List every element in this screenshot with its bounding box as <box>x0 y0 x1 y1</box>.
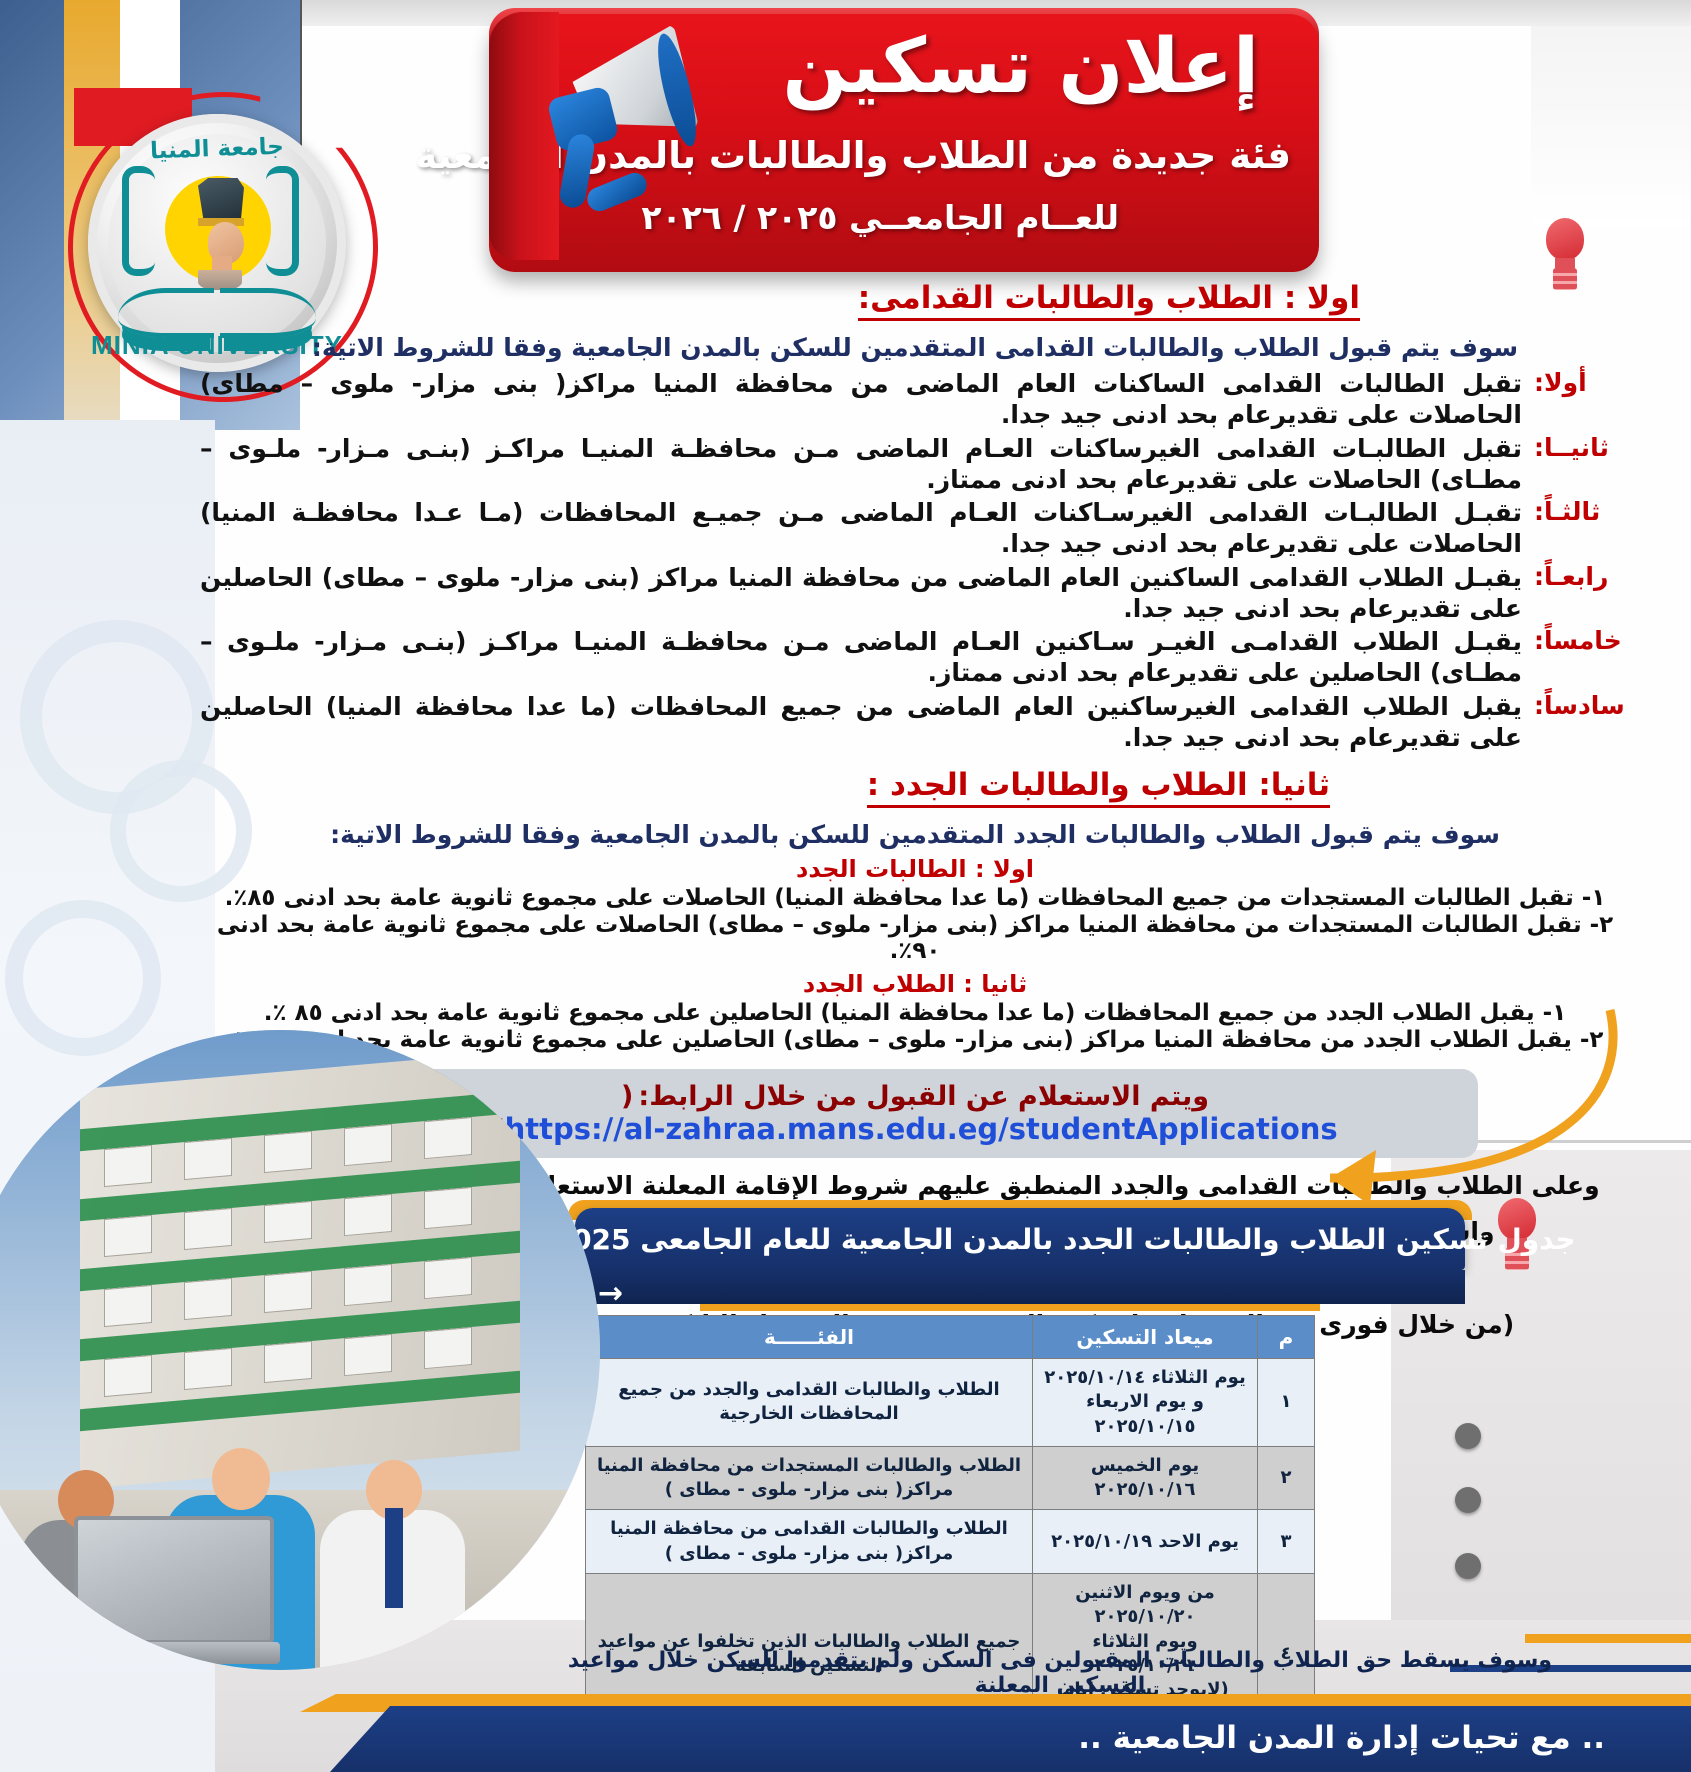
curved-arrow-icon <box>1210 1000 1630 1230</box>
condition-row: أولا: تقبل الطالبات القدامى الساكنات الع… <box>200 368 1630 431</box>
banner-title: إعلان تسكين <box>783 26 1259 106</box>
section1-lead: سوف يتم قبول الطلاب والطالبات القدامى ال… <box>200 333 1630 362</box>
table-row: ٢ يوم الخميس ٢٠٢٥/١٠/١٦ الطلاب والطالبات… <box>586 1446 1315 1510</box>
url-lead-text: ويتم الاستعلام عن القبول من خلال الرابط: <box>638 1081 1209 1112</box>
row-category: الطلاب والطالبات المستجدات من محافظة الم… <box>586 1446 1033 1510</box>
row-date: يوم الخميس ٢٠٢٥/١٠/١٦ <box>1033 1446 1258 1510</box>
table-header-row: م ميعاد التسكين الفئــــــة <box>586 1316 1315 1359</box>
bullet-dot-icon <box>1455 1423 1481 1449</box>
row-num: ١ <box>1258 1359 1315 1447</box>
condition-text: تقبل الطالبات القدامى الساكنات العام الم… <box>200 368 1522 431</box>
nefertiti-icon <box>192 178 254 288</box>
condition-label: سادساً: <box>1534 691 1630 720</box>
footer-orange-rule <box>1525 1634 1691 1643</box>
condition-label: ثالثـاً: <box>1534 497 1630 526</box>
condition-text: يقبـل الطلاب القدامى الساكنين العام الما… <box>200 562 1522 625</box>
section2-title-row: ثانيا: الطلاب والطالبات الجدد : <box>200 767 1630 812</box>
table-banner-lower <box>575 1270 1465 1304</box>
condition-label: ثانيــا: <box>1534 433 1630 462</box>
laptop-icon <box>74 1516 274 1644</box>
new-male-group-title: ثانيا : الطلاب الجدد <box>200 970 1630 998</box>
condition-row: خامساً: يقبـل الطلاب القدامـى الغيـر سـا… <box>200 626 1630 689</box>
new-female-group-title: اولا : الطالبات الجدد <box>200 855 1630 883</box>
row-date: يوم الاحد ٢٠٢٥/١٠/١٩ <box>1033 1510 1258 1574</box>
condition-row: رابعـاً: يقبـل الطلاب القدامى الساكنين ا… <box>200 562 1630 625</box>
poster-root: جامعة المنيا MINIA UNIVERSITY إعلان تسكي… <box>0 0 1691 1772</box>
table-header-category: الفئــــــة <box>586 1316 1033 1359</box>
bullet-dot-icon <box>1455 1487 1481 1513</box>
row-category: الطلاب والطالبات القدامى والجدد من جميع … <box>586 1359 1033 1447</box>
new-female-item: ١- تقبل الطالبات المستجدات من جميع المحا… <box>200 885 1630 911</box>
top-right-shade <box>1531 26 1691 226</box>
row-num: ٣ <box>1258 1510 1315 1574</box>
url-open-paren: ( <box>621 1081 633 1112</box>
logo-brace-left-icon <box>122 166 155 276</box>
footer-band: .. مع تحيات إدارة المدن الجامعية .. <box>330 1706 1691 1772</box>
condition-label: رابعـاً: <box>1534 562 1630 591</box>
condition-label: خامساً: <box>1534 626 1630 655</box>
section1-title: اولا : الطلاب والطالبات القدامى: <box>858 280 1360 321</box>
megaphone-icon <box>540 30 720 220</box>
table-header-num: م <box>1258 1316 1315 1359</box>
condition-label: أولا: <box>1534 368 1630 397</box>
condition-row: سادساً: يقبل الطلاب القدامى الغيرساكنين … <box>200 691 1630 754</box>
condition-text: يقبل الطلاب القدامى الغيرساكنين العام ال… <box>200 691 1522 754</box>
condition-text: يقبـل الطلاب القدامـى الغيـر سـاكنين الع… <box>200 626 1522 689</box>
table-banner-text: جدول تسكين الطلاب والطالبات الجدد بالمدن… <box>464 1223 1575 1256</box>
right-arrow-icon: → <box>598 1276 623 1311</box>
condition-text: تقبـل الطالبـات القدامى الغيرسـاكنات الع… <box>200 497 1522 560</box>
footer-warning-note: وسوف يسقط حق الطلاب والطالبات المقبولين … <box>560 1648 1560 1698</box>
table-row: ١ يوم الثلاثاء ٢٠٢٥/١٠/١٤و يوم الاربعاء … <box>586 1359 1315 1447</box>
row-date: يوم الثلاثاء ٢٠٢٥/١٠/١٤و يوم الاربعاء ٢٠… <box>1033 1359 1258 1447</box>
table-banner-orange-rule <box>700 1304 1320 1311</box>
footer-greeting: .. مع تحيات إدارة المدن الجامعية .. <box>1078 1720 1605 1756</box>
dormitory-photo <box>0 1030 600 1670</box>
table-banner: جدول تسكين الطلاب والطالبات الجدد بالمدن… <box>575 1208 1465 1270</box>
row-num: ٢ <box>1258 1446 1315 1510</box>
students-illustration <box>0 1420 560 1670</box>
section2-title: ثانيا: الطلاب والطالبات الجدد : <box>867 767 1330 808</box>
new-female-item: ٢- تقبل الطالبات المستجدات من محافظة الم… <box>200 912 1630 964</box>
section2-lead: سوف يتم قبول الطلاب والطالبات الجدد المت… <box>200 820 1630 849</box>
condition-text: تقبل الطالبـات القدامى الغيرساكنات العـا… <box>200 433 1522 496</box>
laptop-base <box>60 1642 280 1664</box>
condition-row: ثالثـاً: تقبـل الطالبـات القدامى الغيرسـ… <box>200 497 1630 560</box>
logo-brace-right-icon <box>266 166 299 276</box>
table-header-date: ميعاد التسكين <box>1033 1316 1258 1359</box>
bullet-dot-icon <box>1455 1553 1481 1579</box>
row-category: الطلاب والطالبات القدامى من محافظة المني… <box>586 1510 1033 1574</box>
condition-row: ثانيــا: تقبل الطالبـات القدامى الغيرساك… <box>200 433 1630 496</box>
section1-title-row: اولا : الطلاب والطالبات القدامى: <box>200 280 1630 325</box>
table-row: ٣ يوم الاحد ٢٠٢٥/١٠/١٩ الطلاب والطالبات … <box>586 1510 1315 1574</box>
